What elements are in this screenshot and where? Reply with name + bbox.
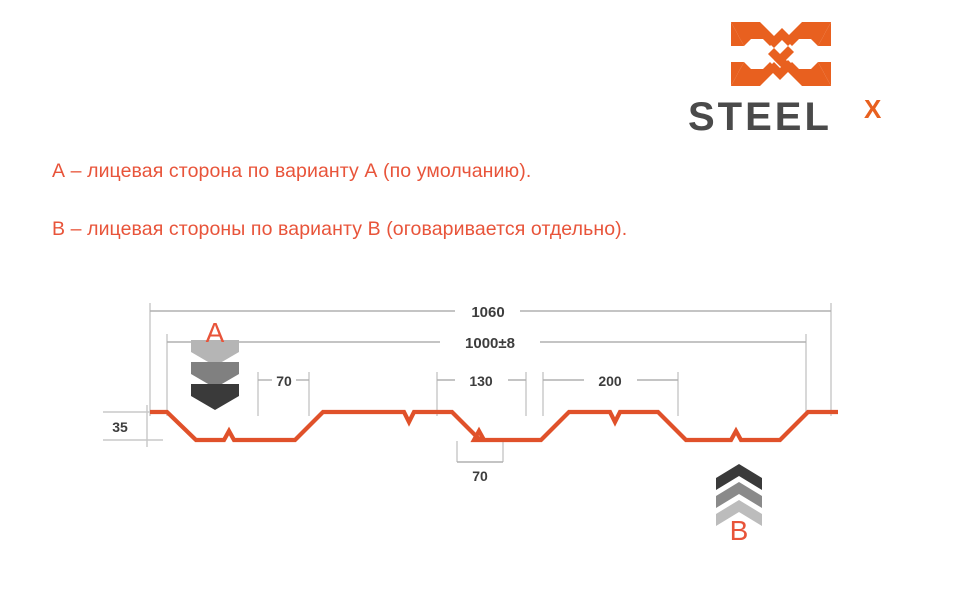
sheet-profile xyxy=(150,412,838,440)
dimension-label-35: 35 xyxy=(112,419,128,435)
marker-a-chevrons xyxy=(191,340,239,410)
drawing-page: STEEL X А – лицевая сторона по варианту … xyxy=(0,0,970,597)
dimension-label-1000: 1000±8 xyxy=(465,335,515,352)
marker-b-label: B xyxy=(730,515,749,546)
dimension-label-200: 200 xyxy=(598,373,622,389)
dimension-label-70-top: 70 xyxy=(276,373,292,389)
dimension-label-130: 130 xyxy=(469,373,493,389)
marker-a-label: A xyxy=(206,317,225,348)
dimension-label-70-valley: 70 xyxy=(472,468,488,484)
dimension-label-1060: 1060 xyxy=(471,304,504,321)
profile-cross-section-drawing: 1060 1000±8 70 130 200 70 35 A B xyxy=(0,0,970,597)
